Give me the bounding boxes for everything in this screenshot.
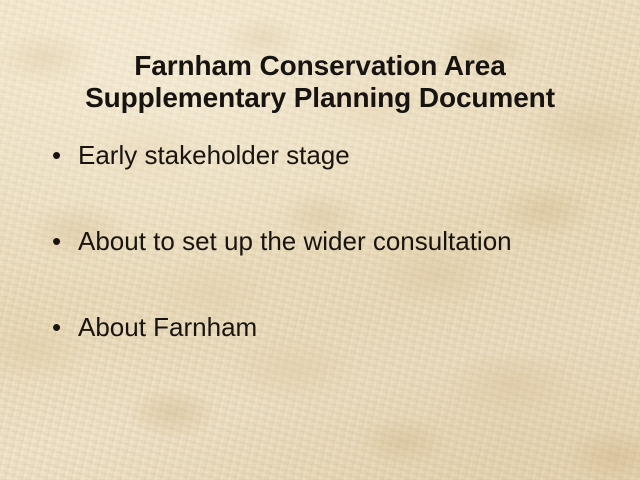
bullet-text: About Farnham — [78, 312, 616, 342]
bullet-point-icon: • — [52, 140, 78, 170]
bullet-text: About to set up the wider consultation — [78, 226, 616, 256]
presentation-slide: Farnham Conservation Area Supplementary … — [0, 0, 640, 480]
slide-title: Farnham Conservation Area Supplementary … — [0, 50, 640, 114]
list-item: • Early stakeholder stage — [52, 140, 616, 170]
bullet-point-icon: • — [52, 226, 78, 256]
slide-title-line-2: Supplementary Planning Document — [85, 82, 555, 113]
bullet-point-icon: • — [52, 312, 78, 342]
list-item: • About Farnham — [52, 312, 616, 342]
slide-title-line-1: Farnham Conservation Area — [134, 50, 505, 81]
bullet-list: • Early stakeholder stage • About to set… — [52, 140, 616, 342]
list-item: • About to set up the wider consultation — [52, 226, 616, 256]
slide-content: Farnham Conservation Area Supplementary … — [0, 0, 640, 480]
bullet-text: Early stakeholder stage — [78, 140, 616, 170]
